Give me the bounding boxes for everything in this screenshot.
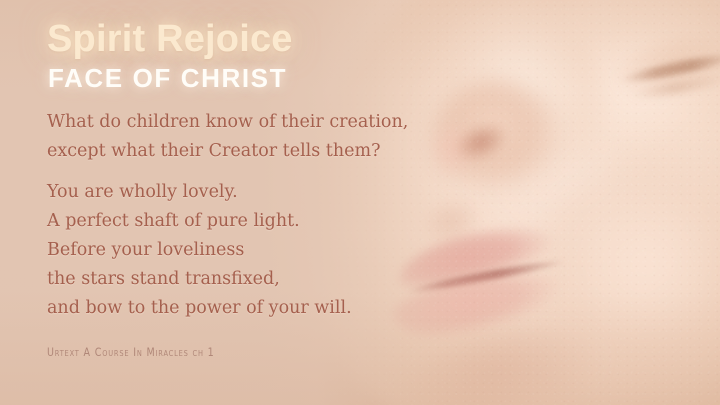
quote-stanza-one: What do children know of their creation,… xyxy=(47,108,408,166)
quote-stanza-two: You are wholly lovely. A perfect shaft o… xyxy=(47,178,352,323)
poster-title: Spirit Rejoice xyxy=(47,18,293,61)
quote-line: and bow to the power of your will. xyxy=(47,294,352,323)
quote-line: the stars stand transfixed, xyxy=(47,265,352,294)
quote-line: You are wholly lovely. xyxy=(47,178,352,207)
text-content-layer: Spirit Rejoice FACE OF CHRIST What do ch… xyxy=(0,0,720,405)
quote-line: What do children know of their creation, xyxy=(47,108,408,137)
quote-line: Before your loveliness xyxy=(47,236,352,265)
quote-line: except what their Creator tells them? xyxy=(47,137,408,166)
poster-subtitle: FACE OF CHRIST xyxy=(48,63,287,94)
source-citation: Urtext A Course In Miracles ch 1 xyxy=(47,345,215,359)
poster-canvas: Spirit Rejoice FACE OF CHRIST What do ch… xyxy=(0,0,720,405)
quote-line: A perfect shaft of pure light. xyxy=(47,207,352,236)
